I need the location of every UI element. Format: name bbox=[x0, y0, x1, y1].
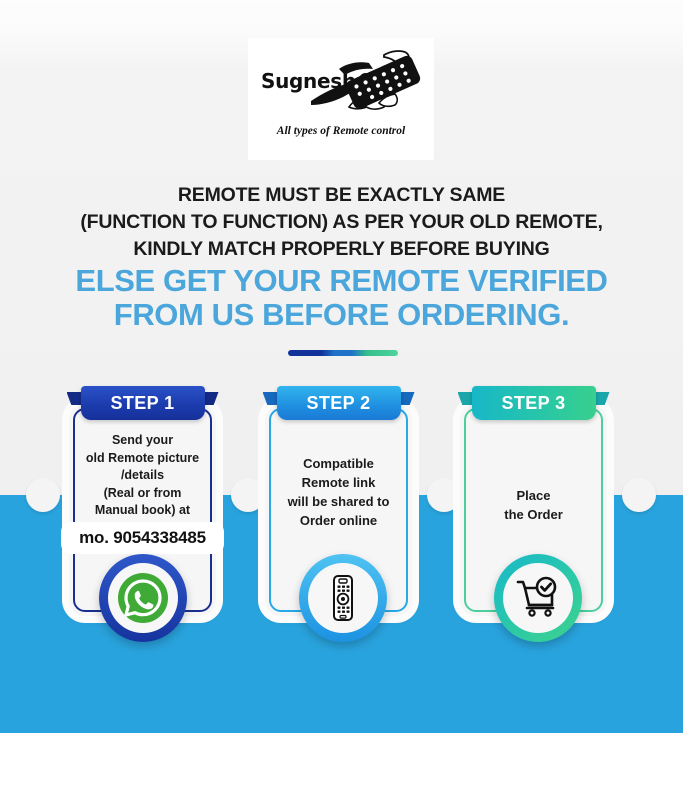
brand-tagline: All types of Remote control bbox=[253, 125, 429, 137]
headline-sub-line-3: KINDLY MATCH PROPERLY BEFORE BUYING bbox=[0, 236, 683, 263]
step2-line-2: Remote link bbox=[275, 473, 402, 492]
step-card-3-text: Place the Order bbox=[470, 486, 597, 524]
promo-poster: Sugnesh® bbox=[0, 0, 683, 800]
step3-line-2: the Order bbox=[470, 505, 597, 524]
step2-line-3: will be shared to bbox=[275, 492, 402, 511]
connector-notch bbox=[427, 478, 461, 512]
step-2-icon-circle[interactable] bbox=[299, 554, 387, 642]
step-card-1-text: Send your old Remote picture /details (R… bbox=[79, 432, 206, 520]
whatsapp-icon bbox=[108, 563, 178, 633]
background-bottom bbox=[0, 733, 683, 800]
headline-sub-line-1: REMOTE MUST BE EXACTLY SAME bbox=[0, 182, 683, 209]
step1-line-4: (Real or from bbox=[79, 485, 206, 503]
step2-line-4: Order online bbox=[275, 511, 402, 530]
step-badge-label: STEP 1 bbox=[81, 386, 205, 420]
step-1-icon-circle[interactable] bbox=[99, 554, 187, 642]
step-badge-2: STEP 2 bbox=[277, 386, 401, 420]
remote-control-icon bbox=[308, 563, 378, 633]
connector-notch bbox=[622, 478, 656, 512]
step3-line-1: Place bbox=[470, 486, 597, 505]
headline-main: ELSE GET YOUR REMOTE VERIFIED FROM US BE… bbox=[0, 264, 683, 332]
step-badge-label: STEP 2 bbox=[277, 386, 401, 420]
headline-main-line-2: FROM US BEFORE ORDERING. bbox=[0, 298, 683, 332]
step-badge-1: STEP 1 bbox=[81, 386, 205, 420]
phone-number[interactable]: mo. 9054338485 bbox=[61, 522, 224, 554]
step2-line-1: Compatible bbox=[275, 454, 402, 473]
brand-logo: Sugnesh® bbox=[248, 38, 434, 160]
step1-line-3: /details bbox=[79, 467, 206, 485]
headline-main-line-1: ELSE GET YOUR REMOTE VERIFIED bbox=[0, 264, 683, 298]
step1-line-1: Send your bbox=[79, 432, 206, 450]
step1-line-5: Manual book) at bbox=[79, 502, 206, 520]
connector-notch bbox=[26, 478, 60, 512]
step-badge-3: STEP 3 bbox=[472, 386, 596, 420]
headline-sub-line-2: (FUNCTION TO FUNCTION) AS PER YOUR OLD R… bbox=[0, 209, 683, 236]
step-badge-label: STEP 3 bbox=[472, 386, 596, 420]
connector-notch bbox=[231, 478, 265, 512]
step1-line-2: old Remote picture bbox=[79, 450, 206, 468]
hand-holding-remote-icon bbox=[309, 49, 425, 128]
gradient-divider bbox=[288, 350, 398, 356]
step-3-icon-circle[interactable] bbox=[494, 554, 582, 642]
step-card-2-text: Compatible Remote link will be shared to… bbox=[275, 454, 402, 530]
headline-subtext: REMOTE MUST BE EXACTLY SAME (FUNCTION TO… bbox=[0, 182, 683, 263]
shopping-cart-check-icon bbox=[503, 563, 573, 633]
